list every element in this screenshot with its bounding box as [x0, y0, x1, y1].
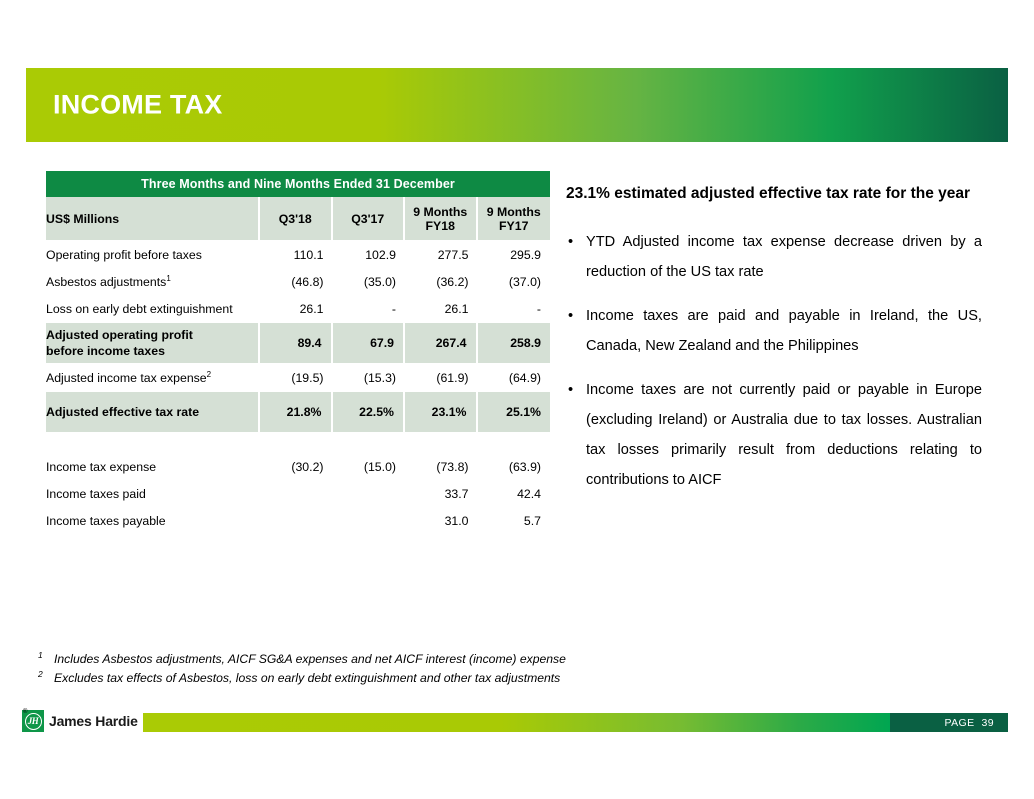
- row-label: Asbestos adjustments1: [46, 269, 260, 296]
- table-row: Income taxes payable31.05.7: [46, 508, 550, 535]
- row-value: [333, 481, 406, 508]
- row-value: 22.5%: [333, 392, 406, 434]
- row-value: 25.1%: [478, 392, 551, 434]
- row-label: Operating profit before taxes: [46, 242, 260, 269]
- column-header-units: US$ Millions: [46, 197, 260, 242]
- row-value: 110.1: [260, 242, 333, 269]
- registered-trademark-mark: ®: [23, 709, 27, 715]
- row-value: 5.7: [478, 508, 551, 535]
- row-value: 33.7: [405, 481, 478, 508]
- row-value: (46.8): [260, 269, 333, 296]
- row-value: -: [478, 296, 551, 323]
- table-row: Adjusted operating profitbefore income t…: [46, 323, 550, 365]
- row-value: 31.0: [405, 508, 478, 535]
- column-header-9m-fy18: 9 Months FY18: [405, 197, 478, 242]
- row-value: -: [333, 296, 406, 323]
- row-value: [260, 508, 333, 535]
- brand-name: James Hardie: [49, 713, 138, 729]
- table-row: Loss on early debt extinguishment26.1-26…: [46, 296, 550, 323]
- row-value: (15.3): [333, 365, 406, 392]
- bullet-icon: •: [568, 375, 573, 405]
- column-header-9m-fy17-line1: 9 Months: [482, 205, 547, 219]
- commentary-bullet: •Income taxes are paid and payable in Ir…: [566, 301, 982, 361]
- column-header-9m-fy18-line1: 9 Months: [409, 205, 472, 219]
- footnotes: 1Includes Asbestos adjustments, AICF SG&…: [38, 650, 758, 688]
- table-row: Adjusted income tax expense2(19.5)(15.3)…: [46, 365, 550, 392]
- footnote-line: 2Excludes tax effects of Asbestos, loss …: [38, 669, 758, 688]
- income-tax-table: US$ Millions Q3'18 Q3'17 9 Months FY18 9…: [46, 197, 550, 535]
- footnote-marker: 1: [166, 274, 170, 283]
- footer-gradient-bar: [143, 713, 890, 732]
- row-label: Income taxes payable: [46, 508, 260, 535]
- page-number: 39: [982, 717, 994, 729]
- table-row: Asbestos adjustments1(46.8)(35.0)(36.2)(…: [46, 269, 550, 296]
- table-row: Operating profit before taxes110.1102.92…: [46, 242, 550, 269]
- row-value: 26.1: [260, 296, 333, 323]
- commentary-bullet: •Income taxes are not currently paid or …: [566, 375, 982, 495]
- row-value: (30.2): [260, 454, 333, 481]
- column-header-q3-18: Q3'18: [260, 197, 333, 242]
- row-label: Adjusted income tax expense2: [46, 365, 260, 392]
- row-value: (64.9): [478, 365, 551, 392]
- column-header-9m-fy17-line2: FY17: [482, 219, 547, 233]
- table-title: Three Months and Nine Months Ended 31 De…: [46, 171, 550, 197]
- row-value: 89.4: [260, 323, 333, 365]
- commentary-headline: 23.1% estimated adjusted effective tax r…: [566, 178, 982, 209]
- row-value: (73.8): [405, 454, 478, 481]
- row-value: (61.9): [405, 365, 478, 392]
- slide-title-banner: INCOME TAX: [26, 68, 1008, 142]
- row-value: 295.9: [478, 242, 551, 269]
- column-header-9m-fy17: 9 Months FY17: [478, 197, 551, 242]
- bullet-icon: •: [568, 227, 573, 257]
- page-label: PAGE: [945, 717, 975, 729]
- row-value: [333, 508, 406, 535]
- row-label: Income taxes paid: [46, 481, 260, 508]
- table-spacer-cell: [46, 434, 550, 454]
- footnote-marker: 2: [207, 370, 211, 379]
- row-value: 67.9: [333, 323, 406, 365]
- column-header-q3-17: Q3'17: [333, 197, 406, 242]
- row-value: (37.0): [478, 269, 551, 296]
- row-value: 26.1: [405, 296, 478, 323]
- table-row: Income taxes paid33.742.4: [46, 481, 550, 508]
- row-value: (35.0): [333, 269, 406, 296]
- row-value: (36.2): [405, 269, 478, 296]
- row-value: 102.9: [333, 242, 406, 269]
- row-label: Adjusted effective tax rate: [46, 392, 260, 434]
- row-value: 277.5: [405, 242, 478, 269]
- column-header-9m-fy18-line2: FY18: [409, 219, 472, 233]
- row-value: 42.4: [478, 481, 551, 508]
- table-header-row: US$ Millions Q3'18 Q3'17 9 Months FY18 9…: [46, 197, 550, 242]
- row-value: 23.1%: [405, 392, 478, 434]
- page-title: INCOME TAX: [53, 90, 223, 121]
- row-label: Income tax expense: [46, 454, 260, 481]
- brand-logo: JH James Hardie: [22, 710, 138, 732]
- table-spacer-row: [46, 434, 550, 454]
- row-value: 267.4: [405, 323, 478, 365]
- row-value: (19.5): [260, 365, 333, 392]
- row-value: (63.9): [478, 454, 551, 481]
- commentary-bullet: •YTD Adjusted income tax expense decreas…: [566, 227, 982, 287]
- row-label: Loss on early debt extinguishment: [46, 296, 260, 323]
- table-header: US$ Millions Q3'18 Q3'17 9 Months FY18 9…: [46, 197, 550, 242]
- commentary-panel: 23.1% estimated adjusted effective tax r…: [566, 178, 982, 495]
- financial-table: Three Months and Nine Months Ended 31 De…: [46, 171, 550, 535]
- commentary-bullet-list: •YTD Adjusted income tax expense decreas…: [566, 227, 982, 495]
- bullet-icon: •: [568, 301, 573, 331]
- row-value: (15.0): [333, 454, 406, 481]
- footnote-line: 1Includes Asbestos adjustments, AICF SG&…: [38, 650, 758, 669]
- table-body: Operating profit before taxes110.1102.92…: [46, 242, 550, 535]
- row-label: Adjusted operating profitbefore income t…: [46, 323, 260, 365]
- row-value: 21.8%: [260, 392, 333, 434]
- page-number-tab: PAGE 39: [890, 713, 1008, 732]
- table-row: Income tax expense(30.2)(15.0)(73.8)(63.…: [46, 454, 550, 481]
- row-value: [260, 481, 333, 508]
- row-value: 258.9: [478, 323, 551, 365]
- table-row: Adjusted effective tax rate21.8%22.5%23.…: [46, 392, 550, 434]
